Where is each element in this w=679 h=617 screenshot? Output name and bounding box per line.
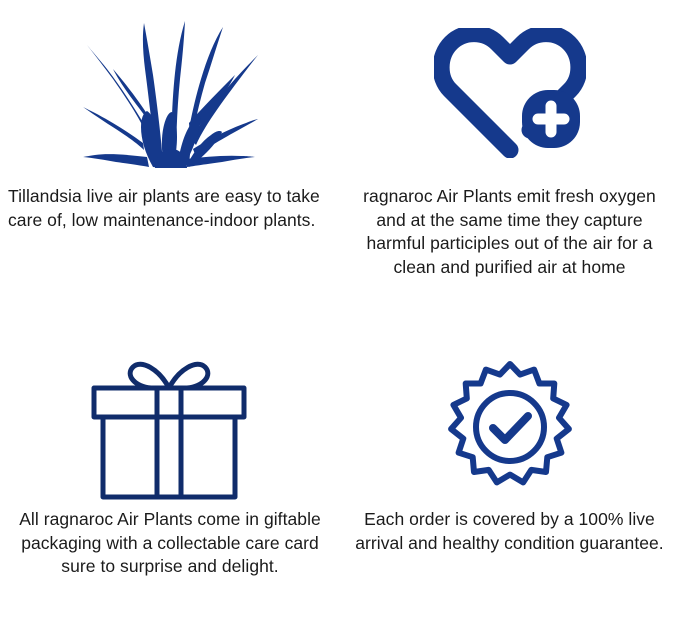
feature-card-air-plant-care: Tillandsia live air plants are easy to t…	[0, 0, 340, 308]
feature-caption-air-plant-care: Tillandsia live air plants are easy to t…	[6, 185, 340, 232]
feature-card-giftable-packaging: All ragnaroc Air Plants come in giftable…	[0, 308, 340, 617]
air-plant-icon	[83, 17, 258, 169]
heart-plus-icon	[434, 28, 586, 158]
gift-box-icon-area	[0, 308, 340, 508]
heart-plus-icon-area	[340, 0, 679, 185]
guarantee-badge-icon	[443, 360, 577, 494]
gift-box-icon	[89, 355, 251, 500]
feature-caption-live-arrival-guarantee: Each order is covered by a 100% live arr…	[347, 508, 673, 555]
feature-grid: Tillandsia live air plants are easy to t…	[0, 0, 679, 617]
feature-card-live-arrival-guarantee: Each order is covered by a 100% live arr…	[340, 308, 679, 617]
feature-caption-fresh-oxygen: ragnaroc Air Plants emit fresh oxygen an…	[350, 185, 670, 279]
feature-caption-giftable-packaging: All ragnaroc Air Plants come in giftable…	[12, 508, 328, 579]
air-plant-icon-area	[0, 0, 340, 185]
feature-card-fresh-oxygen: ragnaroc Air Plants emit fresh oxygen an…	[340, 0, 679, 308]
guarantee-badge-icon-area	[340, 308, 679, 508]
